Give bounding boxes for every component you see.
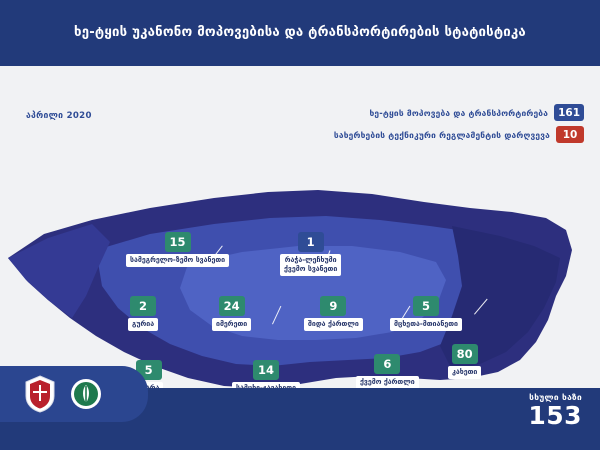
region-name-label: იმერეთი [212,318,251,331]
region-marker-guria[interactable]: 2 გურია [128,296,158,331]
region-name-label: სამეგრელო-ზემო სვანეთი [126,254,229,267]
region-marker-kakheti[interactable]: 80 კახეთი [448,344,481,379]
region-name-line1: რაჭა-ლეჩხუმი [284,256,337,265]
logo-tab [0,366,148,422]
region-marker-racha[interactable]: 1 რაჭა-ლეჩხუმი ქვემო სვანეთი [280,232,341,276]
region-name-label: მცხეთა-მთიანეთი [390,318,462,331]
region-value-badge: 80 [452,344,478,364]
region-value-badge: 5 [413,296,439,316]
region-value-badge: 1 [298,232,324,252]
region-value-badge: 14 [253,360,279,380]
coat-of-arms-icon [22,374,58,414]
date-label: აპრილი 2020 [26,111,92,121]
legend-label: სახერხების ტექნიკური რეგლამენტის დარღვევ… [334,130,550,140]
region-value-badge: 15 [165,232,191,252]
region-value-badge: 2 [130,296,156,316]
region-marker-imereti[interactable]: 24 იმერეთი [212,296,251,331]
region-name-label: ქვემო ქართლი [356,376,419,389]
total-value: 153 [528,403,582,428]
legend: ხე-ტყის მოპოვება და ტრანსპორტირება 161 ს… [334,104,584,143]
region-value-badge: 6 [374,354,400,374]
total-label: სხული ხაზი [529,393,582,401]
page-title: ხე-ტყის უკანონო მოპოვებისა და ტრანსპორტი… [74,25,526,41]
region-marker-shida-kartli[interactable]: 9 შიდა ქართლი [304,296,363,331]
region-name-label: გურია [128,318,158,331]
region-marker-samegrelo[interactable]: 15 სამეგრელო-ზემო სვანეთი [126,232,229,267]
region-marker-kvemo-kartli[interactable]: 6 ქვემო ქართლი [356,354,419,389]
region-value-badge: 24 [219,296,245,316]
header-bar: ხე-ტყის უკანონო მოპოვებისა და ტრანსპორტი… [0,0,600,66]
infographic-root: ხე-ტყის უკანონო მოპოვებისა და ტრანსპორტი… [0,0,600,450]
total-block: სხული ხაზი 153 [528,393,582,428]
legend-value-badge: 10 [556,126,584,143]
region-name-label: კახეთი [448,366,481,379]
legend-label: ხე-ტყის მოპოვება და ტრანსპორტირება [369,108,548,118]
region-marker-mtskheta-mtianeti[interactable]: 5 მცხეთა-მთიანეთი [390,296,462,331]
region-name-label: რაჭა-ლეჩხუმი ქვემო სვანეთი [280,254,341,276]
region-name-line2: ქვემო სვანეთი [284,265,337,274]
region-name-label: შიდა ქართლი [304,318,363,331]
legend-row: სახერხების ტექნიკური რეგლამენტის დარღვევ… [334,126,584,143]
region-value-badge: 9 [320,296,346,316]
legend-value-badge: 161 [554,104,584,121]
ministry-logo-icon [68,374,104,414]
legend-row: ხე-ტყის მოპოვება და ტრანსპორტირება 161 [369,104,584,121]
